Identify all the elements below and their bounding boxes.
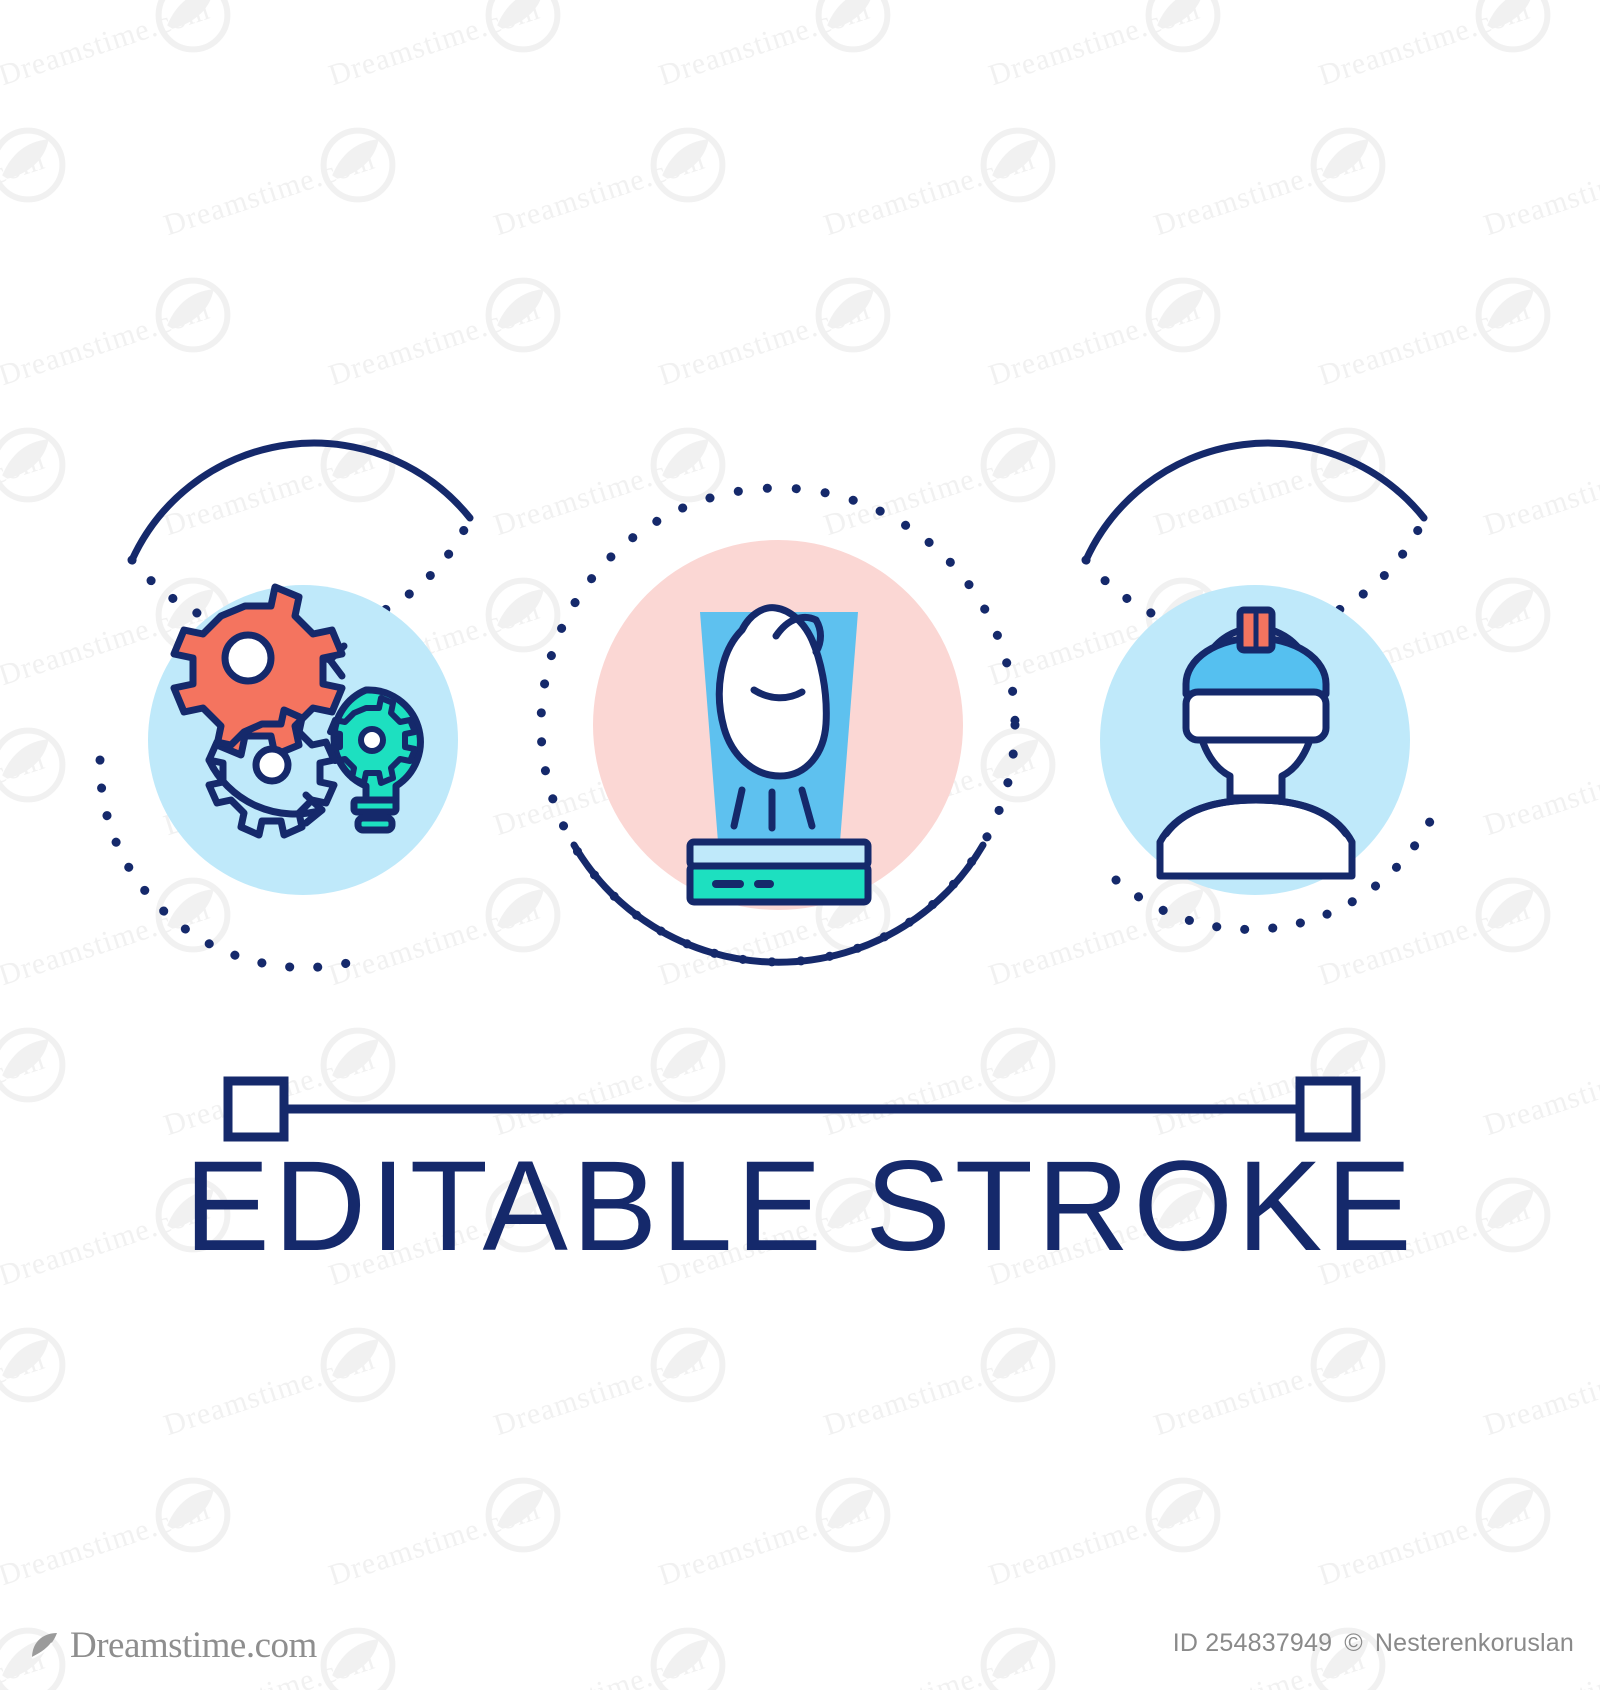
stroke-handle-right[interactable] bbox=[1300, 1081, 1356, 1137]
dreamstime-brand-text: Dreamstime.com bbox=[70, 1627, 317, 1664]
icon-group-innovation bbox=[100, 443, 470, 967]
image-id-text: ID 254837949 bbox=[1173, 1629, 1332, 1658]
editable-stroke-label: EDITABLE STROKE bbox=[184, 1135, 1415, 1278]
projector-base bbox=[690, 842, 868, 902]
concept-icon-illustration: EDITABLE STROKE bbox=[0, 0, 1600, 1690]
footer-bar: Dreamstime.com ID 254837949 © Nesterenko… bbox=[0, 1570, 1600, 1690]
dreamstime-logo[interactable]: Dreamstime.com bbox=[28, 1627, 317, 1664]
headset-visor bbox=[1186, 692, 1326, 740]
icon-group-hologram bbox=[541, 488, 1015, 962]
author-name-text: Nesterenkoruslan bbox=[1375, 1629, 1574, 1658]
image-credit: ID 254837949 © Nesterenkoruslan bbox=[1173, 1629, 1574, 1658]
dreamstime-mark-icon bbox=[28, 1629, 62, 1663]
icon-group-vr-user bbox=[1086, 443, 1440, 929]
stroke-handle-left[interactable] bbox=[228, 1081, 284, 1137]
ring-arc-solid-right bbox=[1086, 443, 1424, 560]
copyright-icon: © bbox=[1344, 1629, 1363, 1658]
editable-stroke-bar bbox=[228, 1081, 1356, 1137]
ring-arc-solid-left bbox=[132, 443, 470, 560]
heart-hologram bbox=[719, 608, 826, 776]
